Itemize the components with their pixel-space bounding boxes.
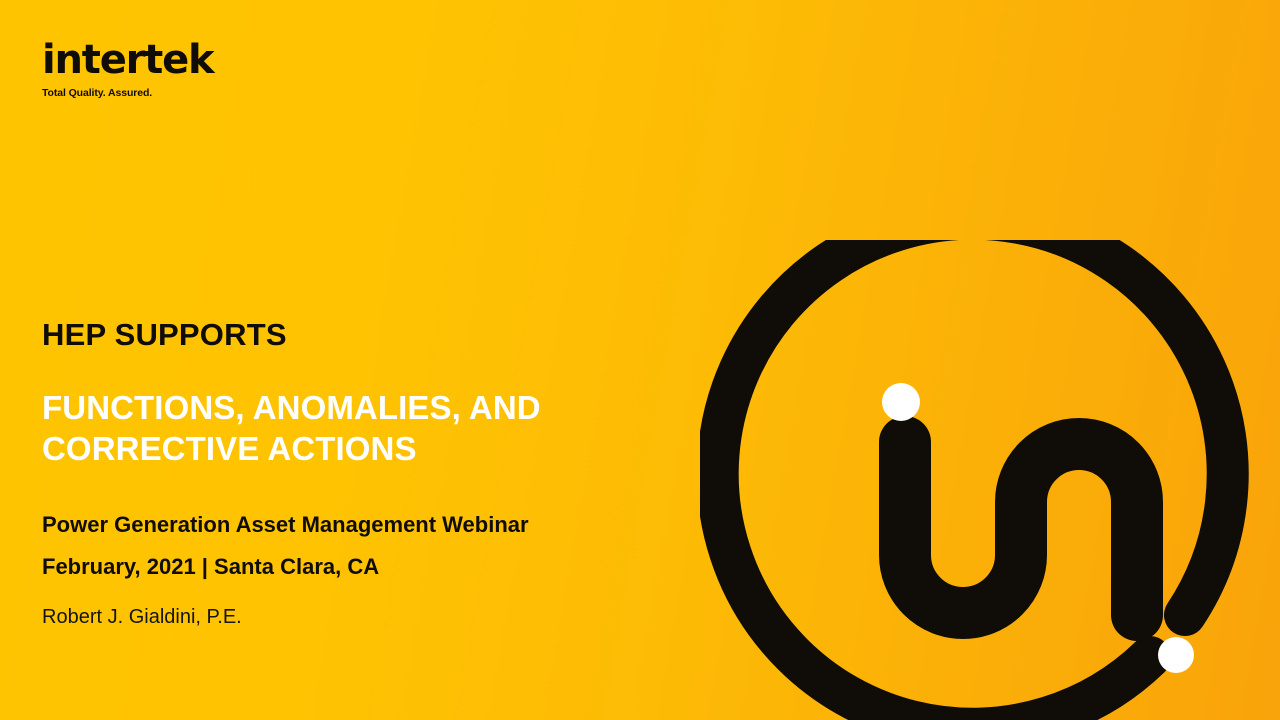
intertek-logo: intertek Total Quality. Assured. (42, 40, 282, 99)
presenter-name: Robert J. Gialdini, P.E. (42, 605, 682, 629)
brand-tittle-icon (45, 31, 52, 38)
subtitle-date-location: February, 2021 | Santa Clara, CA (42, 546, 682, 588)
brand-wordmark-text: intertek (42, 37, 213, 83)
page-title-line-2: CORRECTIVE ACTIONS (42, 428, 682, 470)
ring-arc-icon (718, 240, 1228, 720)
brand-tagline: Total Quality. Assured. (42, 87, 282, 99)
tittle-dot-icon (882, 383, 920, 421)
in-letterform-icon (905, 442, 1137, 615)
gap-dot-icon (1158, 637, 1194, 673)
intertek-monogram-watermark (700, 240, 1280, 720)
slide-content: HEP SUPPORTS FUNCTIONS, ANOMALIES, AND C… (42, 318, 682, 629)
subtitle-event: Power Generation Asset Management Webina… (42, 504, 682, 546)
title-slide: intertek Total Quality. Assured. HEP SUP… (0, 0, 1280, 720)
page-title: FUNCTIONS, ANOMALIES, AND CORRECTIVE ACT… (42, 387, 682, 470)
brand-wordmark: intertek (42, 40, 282, 80)
subtitle: Power Generation Asset Management Webina… (42, 504, 682, 588)
page-title-line-1: FUNCTIONS, ANOMALIES, AND (42, 387, 682, 429)
eyebrow-text: HEP SUPPORTS (42, 318, 682, 353)
